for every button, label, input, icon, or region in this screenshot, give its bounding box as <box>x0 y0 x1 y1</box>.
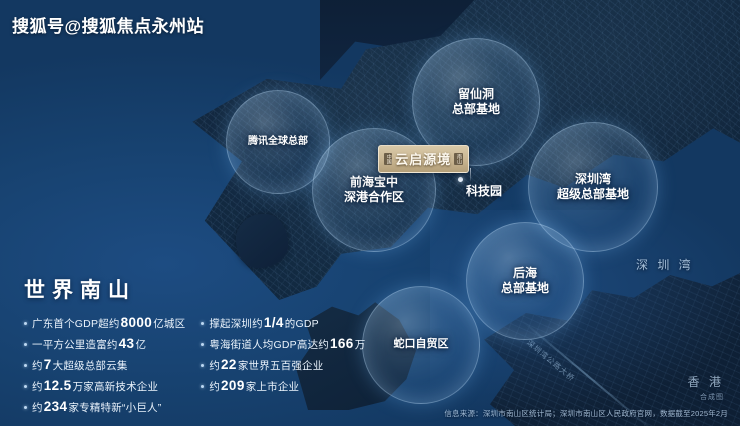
stat-prefix: 粤海街道人均GDP高达约 <box>209 339 329 351</box>
stat-text: 粤海街道人均GDP高达约166万 <box>209 336 365 352</box>
stat-suffix: 家世界五百强企业 <box>238 360 324 372</box>
stat-number: 7 <box>43 357 53 372</box>
stat-text: 撑起深圳约1/4的GDP <box>209 315 319 331</box>
stat-item: 约234家专精特新“小巨人” <box>24 399 185 415</box>
stat-number: 234 <box>43 399 69 414</box>
bubble-label: 后海 总部基地 <box>501 266 549 296</box>
stat-number: 12.5 <box>43 378 73 393</box>
stat-column-right: 撑起深圳约1/4的GDP粤海街道人均GDP高达约166万约22家世界五百强企业约… <box>201 315 365 415</box>
brand-mark-text: 中国 <box>384 153 392 165</box>
stat-item: 撑起深圳约1/4的GDP <box>201 315 365 331</box>
stat-prefix: 约 <box>209 381 220 393</box>
stat-column-left: 广东首个GDP超约8000亿城区一平方公里造富约43亿约7大超级总部云集约12.… <box>24 315 185 415</box>
stat-text: 约22家世界五百强企业 <box>209 357 323 373</box>
bubble-label-line1: 后海 <box>513 266 537 280</box>
bullet-dot-icon <box>24 385 27 388</box>
stat-suffix: 万家高新技术企业 <box>73 381 159 393</box>
bullet-dot-icon <box>201 364 204 367</box>
source-note: 信息来源：深圳市南山区统计局；深圳市南山区人民政府官网，数据截至2025年2月 <box>444 408 728 419</box>
stat-text: 广东首个GDP超约8000亿城区 <box>32 315 185 331</box>
stat-suffix: 万 <box>355 339 366 351</box>
label-synthetic-image-note: 合成图 <box>700 392 724 402</box>
stat-columns: 广东首个GDP超约8000亿城区一平方公里造富约43亿约7大超级总部云集约12.… <box>24 315 365 415</box>
bubble-label: 腾讯全球总部 <box>248 136 308 149</box>
stat-suffix: 的GDP <box>285 318 319 330</box>
stat-text: 约12.5万家高新技术企业 <box>32 378 158 394</box>
stat-text: 约234家专精特新“小巨人” <box>32 399 161 415</box>
stat-item: 广东首个GDP超约8000亿城区 <box>24 315 185 331</box>
stat-prefix: 一平方公里造富约 <box>32 339 118 351</box>
bubble-label-line1: 前海宝中 <box>350 175 398 189</box>
stat-suffix: 大超级总部云集 <box>53 360 128 372</box>
stat-item: 约209家上市企业 <box>201 378 365 394</box>
stat-number: 8000 <box>120 315 154 330</box>
bullet-dot-icon <box>201 322 204 325</box>
stat-number: 22 <box>220 357 238 372</box>
bubble-label: 蛇口自贸区 <box>394 338 449 352</box>
bullet-dot-icon <box>24 406 27 409</box>
bubble-label: 前海宝中 深港合作区 <box>344 175 404 205</box>
stat-item: 约7大超级总部云集 <box>24 357 185 373</box>
map-canvas: 深圳湾公路大桥 搜狐号@搜狐焦点永州站 腾讯全球总部 留仙洞 总部基地 前海宝中… <box>0 0 740 426</box>
stat-number: 1/4 <box>263 315 285 330</box>
stat-suffix: 亿 <box>135 339 146 351</box>
stat-prefix: 约 <box>32 360 43 372</box>
bullet-dot-icon <box>201 343 204 346</box>
bubble-label-line1: 深圳湾 <box>575 172 611 186</box>
bubble-label-line2: 总部基地 <box>501 281 549 295</box>
stat-text: 约7大超级总部云集 <box>32 357 128 373</box>
stat-text: 一平方公里造富约43亿 <box>32 336 146 352</box>
bubble-houhai-hq-base[interactable]: 后海 总部基地 <box>466 222 584 340</box>
poi-label: 科技园 <box>466 182 502 199</box>
bubble-label-line1: 蛇口自贸区 <box>394 338 449 350</box>
stat-number: 166 <box>329 336 355 351</box>
bubble-label-line2: 深港合作区 <box>344 190 404 204</box>
bubble-label-line2: 总部基地 <box>452 102 500 116</box>
bullet-dot-icon <box>24 322 27 325</box>
bullet-dot-icon <box>24 343 27 346</box>
watermark-text: 搜狐号@搜狐焦点永州站 <box>12 12 204 37</box>
stat-prefix: 约 <box>32 381 43 393</box>
stat-number: 43 <box>118 336 136 351</box>
stat-item: 粤海街道人均GDP高达约166万 <box>201 336 365 352</box>
bullet-dot-icon <box>24 364 27 367</box>
bubble-label-line2: 超级总部基地 <box>557 187 629 201</box>
stat-item: 约22家世界五百强企业 <box>201 357 365 373</box>
brand-sub-text: 南山 <box>454 153 462 165</box>
bubble-shekou-free-trade-zone[interactable]: 蛇口自贸区 <box>362 286 480 404</box>
stat-item: 一平方公里造富约43亿 <box>24 336 185 352</box>
info-panel: 世界南山 广东首个GDP超约8000亿城区一平方公里造富约43亿约7大超级总部云… <box>24 274 365 415</box>
bubble-label: 留仙洞 总部基地 <box>452 87 500 117</box>
stat-text: 约209家上市企业 <box>209 378 299 394</box>
page-title: 世界南山 <box>24 274 365 304</box>
map-pin-icon <box>458 177 463 182</box>
poi-kejiyuan[interactable]: 科技园 <box>458 172 502 199</box>
stat-prefix: 广东首个GDP超约 <box>32 318 120 330</box>
label-hong-kong: 香 港 <box>688 373 724 390</box>
stat-prefix: 约 <box>32 402 43 414</box>
bullet-dot-icon <box>201 385 204 388</box>
brand-name-text: 云启源境 <box>395 149 451 168</box>
stat-item: 约12.5万家高新技术企业 <box>24 378 185 394</box>
label-shenzhen-bay: 深 圳 湾 <box>636 256 694 273</box>
bubble-label-line1: 留仙洞 <box>458 87 494 101</box>
stat-number: 209 <box>220 378 246 393</box>
brand-leader-line <box>470 168 471 182</box>
bubble-label: 深圳湾 超级总部基地 <box>557 172 629 202</box>
bubble-label-line1: 腾讯全球总部 <box>248 136 308 147</box>
stat-prefix: 约 <box>209 360 220 372</box>
stat-prefix: 撑起深圳约 <box>209 318 263 330</box>
stat-suffix: 家上市企业 <box>246 381 300 393</box>
brand-badge[interactable]: 中国 云启源境 南山 <box>378 145 469 173</box>
stat-suffix: 家专精特新“小巨人” <box>68 402 161 414</box>
stat-suffix: 亿城区 <box>153 318 185 330</box>
island-landmass <box>236 214 288 268</box>
